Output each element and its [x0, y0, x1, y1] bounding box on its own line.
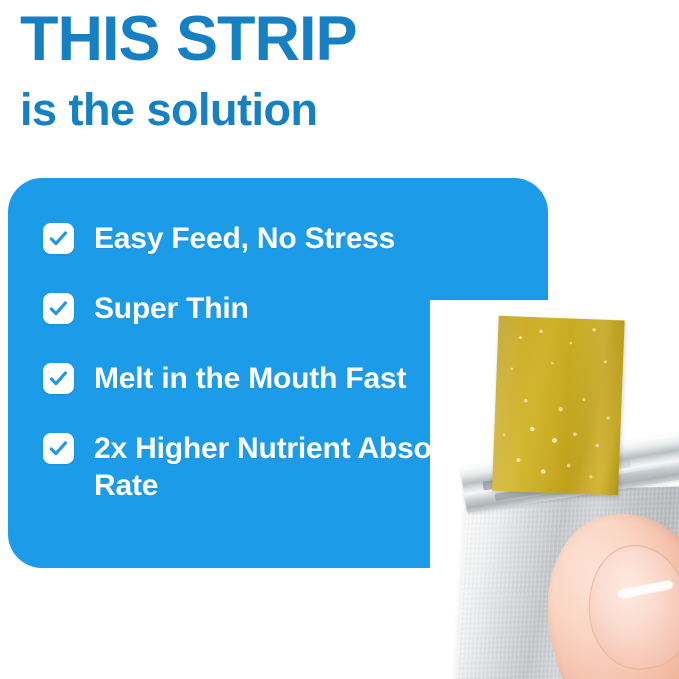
checkbox-checked-icon	[43, 363, 74, 394]
benefit-item-2: Super Thin	[43, 290, 249, 327]
product-marketing-image: THIS STRIP is the solution Easy Feed, No…	[0, 0, 679, 679]
nail-highlight	[617, 580, 674, 600]
benefit-label: Melt in the Mouth Fast	[94, 360, 406, 397]
checkbox-checked-icon	[43, 293, 74, 324]
fingernail	[582, 540, 679, 674]
benefit-label: Super Thin	[94, 290, 249, 327]
checkbox-checked-icon	[43, 433, 74, 464]
benefit-label: Easy Feed, No Stress	[94, 220, 395, 257]
product-photo	[430, 300, 679, 679]
headline-primary: THIS STRIP	[20, 6, 620, 72]
headline-secondary: is the solution	[20, 84, 620, 136]
benefit-item-3: Melt in the Mouth Fast	[43, 360, 406, 397]
strip-sheen	[492, 316, 625, 496]
checkbox-checked-icon	[43, 223, 74, 254]
oral-film-strip	[492, 316, 625, 496]
headline-block: THIS STRIP is the solution	[20, 6, 620, 136]
benefit-item-1: Easy Feed, No Stress	[43, 220, 395, 257]
